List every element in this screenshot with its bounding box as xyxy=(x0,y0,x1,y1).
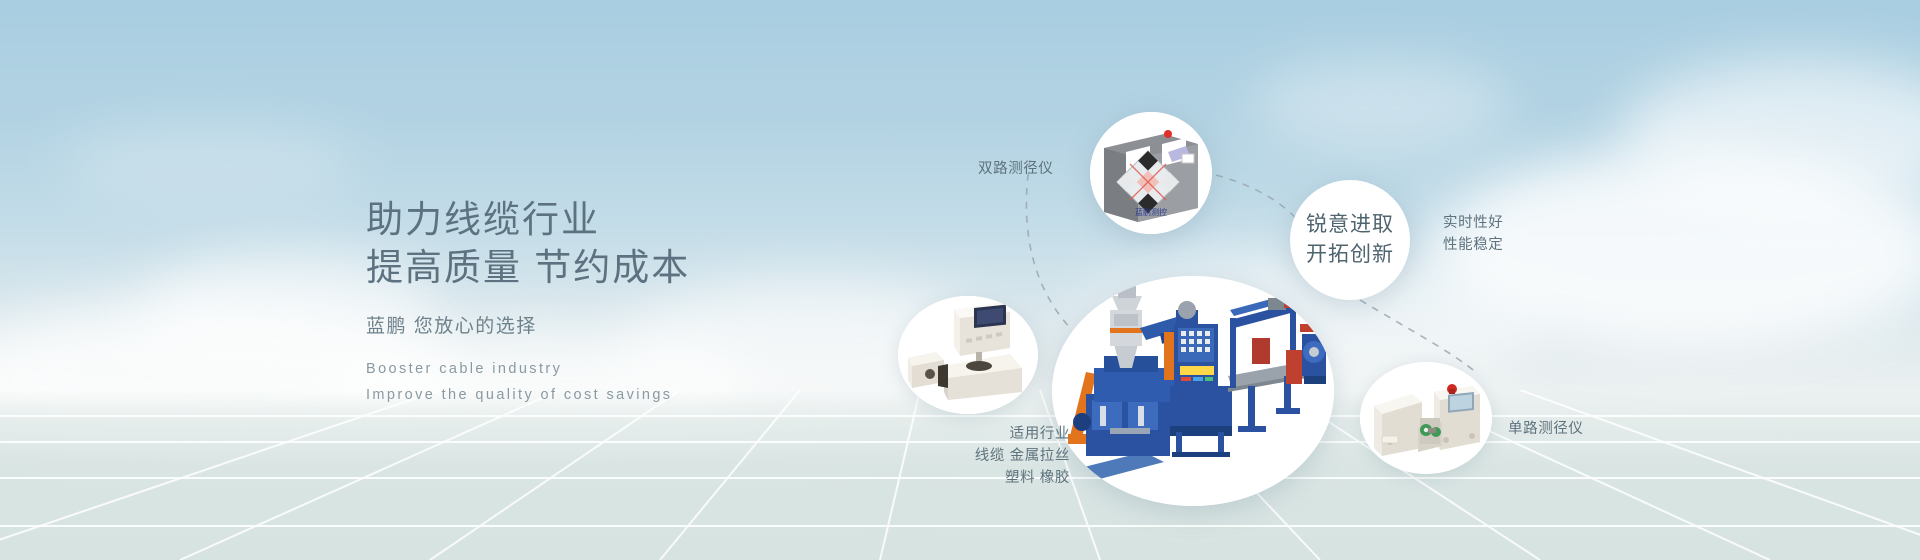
headline-line-1: 助力线缆行业 xyxy=(366,196,926,244)
caption-dual-gauge: 双路测径仪 xyxy=(978,158,1054,180)
caption-single-gauge: 单路测径仪 xyxy=(1508,418,1584,440)
hero-copy: 助力线缆行业 提高质量 节约成本 蓝鹏 您放心的选择 Booster cable… xyxy=(366,196,926,408)
slogan-text: 锐意进取 开拓创新 xyxy=(1290,210,1410,270)
main-product-bubble xyxy=(1052,276,1334,506)
single-gauge-bubble xyxy=(1360,362,1492,474)
slogan-bubble: 锐意进取 开拓创新 xyxy=(1290,180,1410,300)
feature-line-2: 性能稳定 xyxy=(1443,234,1503,256)
device-brand-label: 蓝鹏测控 xyxy=(1135,207,1167,217)
apply-line-1: 线缆 金属拉丝 xyxy=(896,445,1070,467)
benchtop-instrument-bubble xyxy=(898,296,1038,414)
caption-applications: 适用行业 线缆 金属拉丝 塑料 橡胶 xyxy=(896,423,1070,489)
cloud-shape xyxy=(60,120,360,200)
subheadline: 蓝鹏 您放心的选择 xyxy=(366,314,926,340)
single-gauge-photo xyxy=(1360,362,1492,474)
feature-line-1: 实时性好 xyxy=(1443,212,1503,234)
slogan-line-2: 开拓创新 xyxy=(1290,240,1410,270)
dual-gauge-bubble: 蓝鹏测控 xyxy=(1090,112,1212,234)
cloud-shape xyxy=(1250,60,1510,150)
apply-line-2: 塑料 橡胶 xyxy=(896,467,1070,489)
extrusion-line-photo xyxy=(1052,276,1334,506)
english-line-1: Booster cable industry xyxy=(366,356,926,382)
slogan-line-1: 锐意进取 xyxy=(1290,210,1410,240)
apply-title: 适用行业 xyxy=(896,423,1070,445)
caption-features: 实时性好 性能稳定 xyxy=(1443,212,1503,256)
hero-banner: 助力线缆行业 提高质量 节约成本 蓝鹏 您放心的选择 Booster cable… xyxy=(0,0,1920,560)
benchtop-instrument-photo xyxy=(898,296,1038,414)
headline-line-2: 提高质量 节约成本 xyxy=(366,244,926,292)
dual-gauge-photo: 蓝鹏测控 xyxy=(1090,112,1212,234)
english-line-2: Improve the quality of cost savings xyxy=(366,382,926,408)
